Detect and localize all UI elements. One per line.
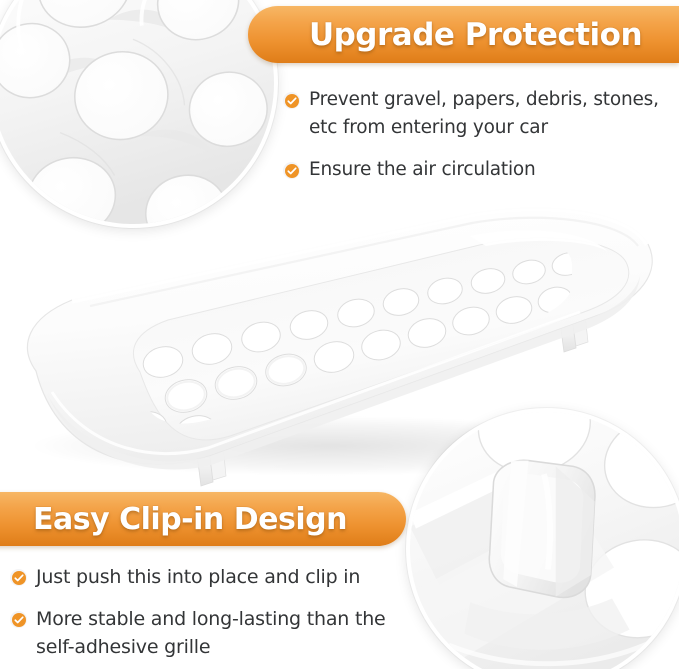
list-item: More stable and long-lasting than the se… xyxy=(10,605,400,661)
list-item-label: Prevent gravel, papers, debris, stones, … xyxy=(309,86,675,142)
list-item-label: Just push this into place and clip in xyxy=(36,563,360,591)
list-item: Ensure the air circulation xyxy=(283,156,675,184)
check-circle-icon xyxy=(10,569,27,586)
banner-easy-clip-in-design: Easy Clip-in Design xyxy=(0,492,406,546)
grille-holes-closeup-photo xyxy=(0,0,278,228)
list-item: Prevent gravel, papers, debris, stones, … xyxy=(283,86,675,142)
list-item-label: Ensure the air circulation xyxy=(309,156,536,184)
banner-bottom-title: Easy Clip-in Design xyxy=(33,502,347,537)
check-circle-icon xyxy=(10,611,27,628)
banner-upgrade-protection: Upgrade Protection xyxy=(248,6,679,63)
infographic-page: Upgrade Protection Prevent gravel, paper… xyxy=(0,0,679,669)
banner-top-title: Upgrade Protection xyxy=(309,17,642,53)
list-item: Just push this into place and clip in xyxy=(10,563,400,591)
feature-list-bottom: Just push this into place and clip in Mo… xyxy=(10,563,400,669)
list-item-label: More stable and long-lasting than the se… xyxy=(36,605,400,661)
clip-tab-shape xyxy=(489,460,595,597)
check-circle-icon xyxy=(283,162,300,179)
check-circle-icon xyxy=(283,92,300,109)
feature-list-top: Prevent gravel, papers, debris, stones, … xyxy=(283,86,675,198)
